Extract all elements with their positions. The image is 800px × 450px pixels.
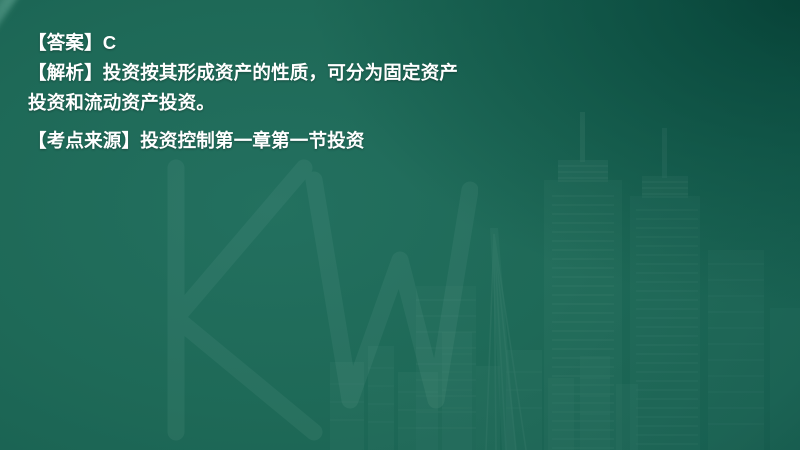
streak-2 <box>0 0 24 123</box>
slide-canvas: 【答案】C 【解析】投资按其形成资产的性质，可分为固定资产 投资和流动资产投资。… <box>0 0 800 450</box>
knowledge-source-line: 【考点来源】投资控制第一章第一节投资 <box>28 126 728 156</box>
explanation-line-1: 【解析】投资按其形成资产的性质，可分为固定资产 <box>28 58 728 88</box>
kw-monogram-watermark <box>118 150 478 450</box>
explanation-line-2: 投资和流动资产投资。 <box>28 88 728 118</box>
twin-antenna-tower <box>544 112 700 450</box>
mid-rise-block <box>416 286 476 450</box>
city-skyline-watermark <box>330 110 800 450</box>
right-slab-building <box>708 250 800 450</box>
slide-text-block: 【答案】C 【解析】投资按其形成资产的性质，可分为固定资产 投资和流动资产投资。… <box>28 28 728 156</box>
cable-stayed-tower <box>486 228 526 450</box>
low-rise-building-blocks <box>330 332 638 450</box>
answer-line: 【答案】C <box>28 28 728 58</box>
